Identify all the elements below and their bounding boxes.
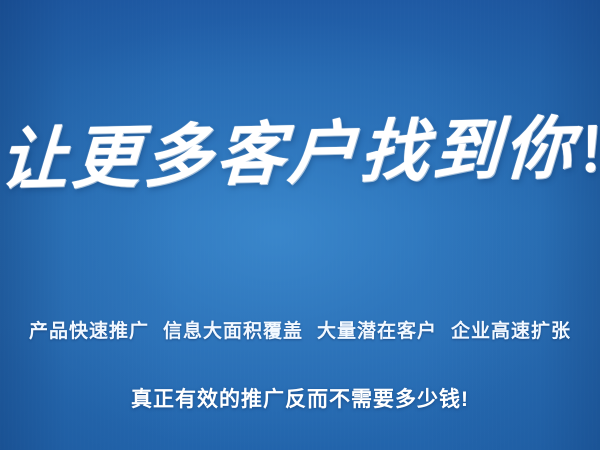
headline-exclamation: ！	[575, 115, 600, 186]
benefit-item-2: 信息大面积覆盖	[163, 318, 303, 346]
banner-content: 让更多客户找到你！ 产品快速推广 信息大面积覆盖 大量潜在客户 企业高速扩张 真…	[0, 0, 600, 450]
benefit-list: 产品快速推广 信息大面积覆盖 大量潜在客户 企业高速扩张	[0, 318, 600, 346]
benefit-item-4: 企业高速扩张	[451, 318, 571, 346]
benefit-item-1: 产品快速推广	[29, 318, 149, 346]
headline-calligraphy: 让更多客户找到你！	[0, 98, 600, 214]
promo-banner: 让更多客户找到你！ 产品快速推广 信息大面积覆盖 大量潜在客户 企业高速扩张 真…	[0, 0, 600, 450]
headline-text: 让更多客户找到你	[0, 108, 578, 200]
tagline-text: 真正有效的推广反而不需要多少钱!	[0, 385, 600, 415]
benefit-item-3: 大量潜在客户	[317, 318, 437, 346]
